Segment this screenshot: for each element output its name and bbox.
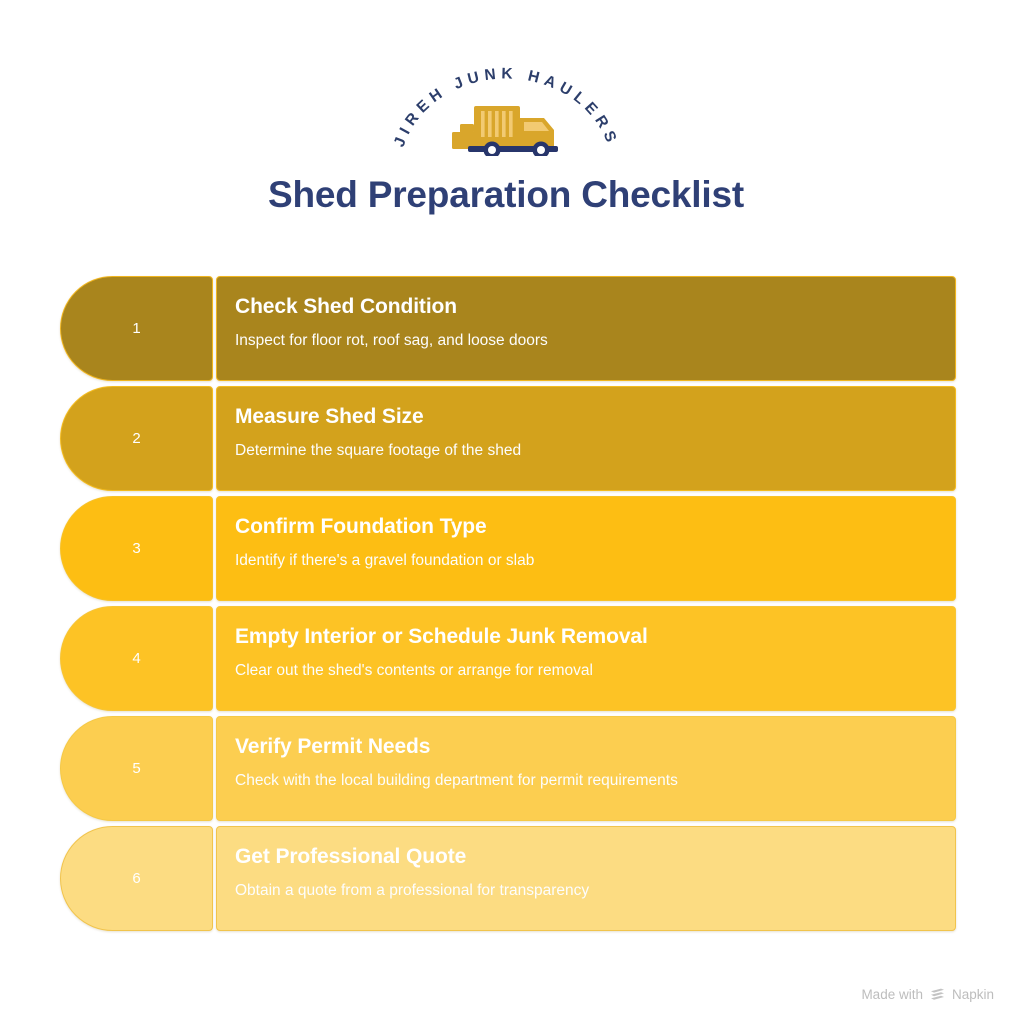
step-badge-5[interactable]: 5 <box>60 716 213 821</box>
step-subtitle: Obtain a quote from a professional for t… <box>235 882 955 901</box>
step-number: 3 <box>132 541 140 556</box>
step-title: Measure Shed Size <box>235 405 955 429</box>
step-badge-1[interactable]: 1 <box>60 276 213 381</box>
step-content-4[interactable]: Empty Interior or Schedule Junk Removal … <box>216 606 956 711</box>
step-title: Confirm Foundation Type <box>235 515 955 539</box>
step-subtitle: Check with the local building department… <box>235 772 955 791</box>
step-number: 6 <box>132 871 140 886</box>
checklist-row[interactable]: 2 Measure Shed Size Determine the square… <box>60 386 956 491</box>
step-number: 2 <box>132 431 140 446</box>
napkin-brand-label: Napkin <box>952 987 994 1002</box>
checklist-row[interactable]: 3 Confirm Foundation Type Identify if th… <box>60 496 956 601</box>
brand-logo: JIREH JUNK HAULERS <box>0 46 1012 166</box>
napkin-logo-icon <box>930 988 945 1002</box>
step-subtitle: Clear out the shed's contents or arrange… <box>235 662 955 681</box>
step-subtitle: Identify if there's a gravel foundation … <box>235 552 955 571</box>
step-content-3[interactable]: Confirm Foundation Type Identify if ther… <box>216 496 956 601</box>
step-content-6[interactable]: Get Professional Quote Obtain a quote fr… <box>216 826 956 931</box>
step-badge-6[interactable]: 6 <box>60 826 213 931</box>
step-number: 1 <box>132 321 140 336</box>
page-title: Shed Preparation Checklist <box>0 174 1012 216</box>
step-title: Empty Interior or Schedule Junk Removal <box>235 625 955 649</box>
step-number: 4 <box>132 651 140 666</box>
step-badge-3[interactable]: 3 <box>60 496 213 601</box>
checklist: 1 Check Shed Condition Inspect for floor… <box>60 276 956 936</box>
step-content-2[interactable]: Measure Shed Size Determine the square f… <box>216 386 956 491</box>
step-content-5[interactable]: Verify Permit Needs Check with the local… <box>216 716 956 821</box>
step-title: Check Shed Condition <box>235 295 955 319</box>
checklist-row[interactable]: 4 Empty Interior or Schedule Junk Remova… <box>60 606 956 711</box>
made-with-label: Made with <box>861 987 923 1002</box>
step-content-1[interactable]: Check Shed Condition Inspect for floor r… <box>216 276 956 381</box>
checklist-row[interactable]: 5 Verify Permit Needs Check with the loc… <box>60 716 956 821</box>
step-number: 5 <box>132 761 140 776</box>
checklist-row[interactable]: 1 Check Shed Condition Inspect for floor… <box>60 276 956 381</box>
step-title: Get Professional Quote <box>235 845 955 869</box>
step-badge-4[interactable]: 4 <box>60 606 213 711</box>
moving-truck-icon <box>448 94 564 156</box>
checklist-row[interactable]: 6 Get Professional Quote Obtain a quote … <box>60 826 956 931</box>
step-title: Verify Permit Needs <box>235 735 955 759</box>
footer-attribution[interactable]: Made with Napkin <box>861 987 994 1002</box>
step-subtitle: Determine the square footage of the shed <box>235 442 955 461</box>
step-subtitle: Inspect for floor rot, roof sag, and loo… <box>235 332 955 351</box>
step-badge-2[interactable]: 2 <box>60 386 213 491</box>
